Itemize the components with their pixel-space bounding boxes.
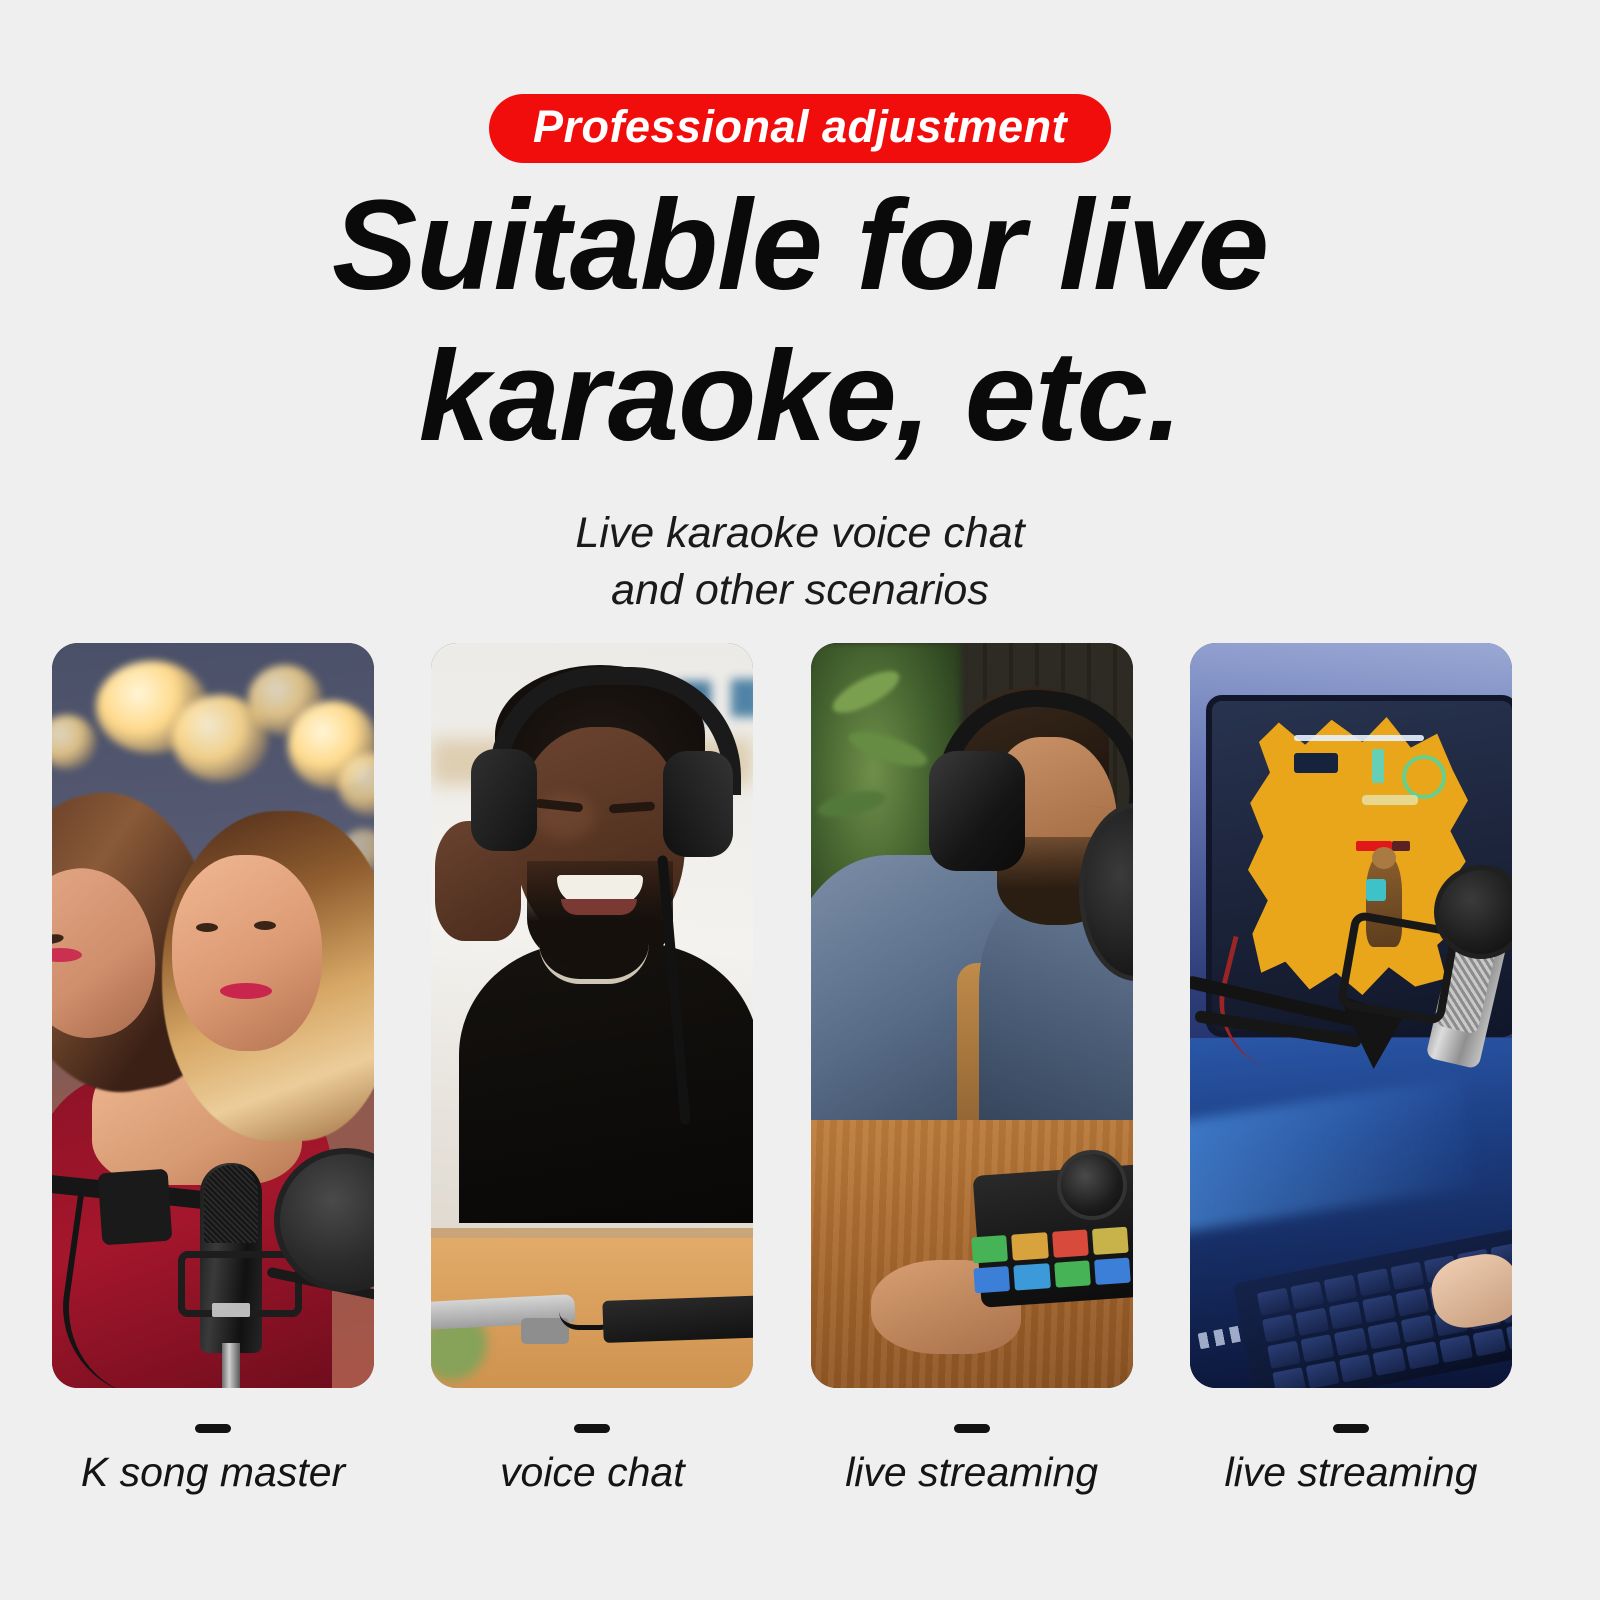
woman-right-lips [220,983,272,999]
pad-button [1051,1229,1088,1257]
page-title: Suitable for live karaoke, etc. [0,170,1600,472]
caption-label: K song master [81,1452,345,1493]
caption-label: voice chat [500,1452,685,1493]
game-hud-indicator [1372,749,1384,783]
desk-edge [431,1228,753,1238]
headline-line-1: Suitable for live [0,170,1600,321]
caption-label: live streaming [1225,1452,1478,1493]
key [1473,1328,1507,1356]
key [1362,1295,1396,1323]
scenario-image-karaoke [52,643,374,1388]
key [1300,1334,1334,1362]
key [1339,1354,1373,1382]
eye [196,923,218,932]
caption-voice-chat: voice chat [431,1424,753,1493]
headphone-earcup-icon [471,749,537,851]
sound-card-pads [971,1227,1131,1294]
game-character-vest [1366,879,1386,901]
mic-grille [204,1165,258,1243]
key [1290,1281,1324,1309]
caption-dash-icon [954,1424,990,1433]
pad-button [1091,1227,1128,1255]
key [1372,1348,1406,1376]
eye [52,933,64,945]
key [1439,1335,1473,1363]
eye [254,921,276,930]
scenario-gallery [52,643,1512,1388]
professional-adjustment-badge: Professional adjustment [489,94,1111,163]
key [1306,1361,1340,1388]
page-subtitle: Live karaoke voice chat and other scenar… [0,505,1600,619]
key [1257,1288,1291,1316]
scenario-captions: K song master voice chat live streaming … [52,1424,1512,1493]
mic-stem [222,1343,240,1388]
key [1406,1341,1440,1369]
game-character-head [1372,847,1396,869]
pad-button [1093,1257,1130,1285]
game-hud-dial [1402,755,1446,799]
badge-row: Professional adjustment [0,94,1600,163]
scenario-image-live-streaming-podcast [811,643,1133,1388]
caption-live-streaming-gaming: live streaming [1190,1424,1512,1493]
game-hud-panel [1294,753,1338,773]
pad-button [1011,1232,1048,1260]
lower-lip [561,899,637,915]
pad-button [1013,1263,1050,1291]
mic-boom-joint [98,1169,173,1246]
game-hud-label [1362,795,1418,805]
key [1395,1288,1429,1316]
headphone-earcup-icon [929,751,1025,871]
headline-line-2: karaoke, etc. [0,321,1600,472]
key [1262,1314,1296,1342]
woman-right-face [172,855,322,1051]
subtitle-line-1: Live karaoke voice chat [0,505,1600,562]
caption-karaoke: K song master [52,1424,374,1493]
headphone-earcup-icon [663,751,733,857]
scenario-image-voice-chat [431,643,753,1388]
pad-button [973,1265,1010,1293]
key [1367,1321,1401,1349]
key [1357,1268,1391,1296]
health-bar-empty [1392,841,1410,851]
caption-dash-icon [1333,1424,1369,1433]
caption-label: live streaming [845,1452,1098,1493]
key [1324,1275,1358,1303]
subtitle-line-2: and other scenarios [0,562,1600,619]
key [1272,1367,1306,1388]
mic-brand-label [212,1303,250,1317]
audio-device [603,1295,754,1343]
key [1295,1308,1329,1336]
key [1506,1322,1512,1350]
background-blur-shape [731,679,753,717]
pad-button [971,1235,1008,1263]
key [1390,1262,1424,1290]
caption-live-streaming-podcast: live streaming [811,1424,1133,1493]
black-shirt [459,943,753,1223]
pad-button [1053,1260,1090,1288]
key [1334,1328,1368,1356]
key [1329,1301,1363,1329]
caption-dash-icon [574,1424,610,1433]
key [1401,1315,1435,1343]
key [1267,1341,1301,1369]
game-hud-bar [1294,735,1424,741]
scenario-image-live-streaming-gaming [1190,643,1512,1388]
caption-dash-icon [195,1424,231,1433]
